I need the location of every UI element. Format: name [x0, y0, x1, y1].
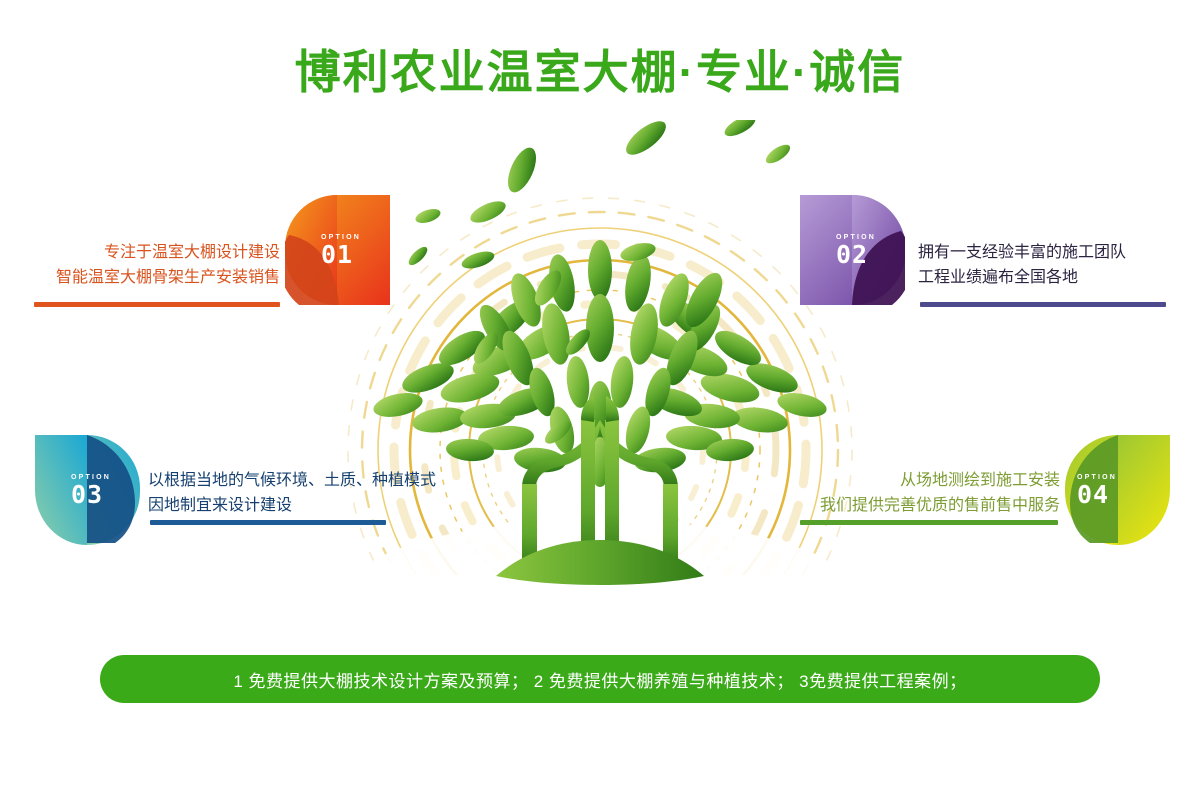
bottom-banner: 1 免费提供大棚技术设计方案及预算； 2 免费提供大棚养殖与种植技术； 3免费提…	[100, 655, 1100, 703]
option-03-badge[interactable]: OPTION 03	[35, 435, 140, 545]
option-01-line-2: 智能温室大棚骨架生产安装销售	[30, 265, 280, 290]
option-04-line-2: 我们提供完善优质的售前售中服务	[790, 493, 1060, 518]
option-01-line-1: 专注于温室大棚设计建设	[30, 240, 280, 265]
option-02-badge[interactable]: OPTION 02	[800, 195, 905, 305]
option-02-rule	[920, 302, 1166, 307]
bottom-banner-text: 1 免费提供大棚技术设计方案及预算； 2 免费提供大棚养殖与种植技术； 3免费提…	[233, 667, 966, 692]
option-04-rule	[800, 520, 1058, 525]
option-03-text: 以根据当地的气候环境、土质、种植模式 因地制宜来设计建设	[148, 468, 528, 518]
option-02-text: 拥有一支经验丰富的施工团队 工程业绩遍布全国各地	[918, 240, 1180, 290]
option-04-line-1: 从场地测绘到施工安装	[790, 468, 1060, 493]
option-01-rule	[34, 302, 280, 307]
option-04-badge[interactable]: OPTION 04	[1065, 435, 1170, 545]
poster-canvas: 博利农业温室大棚·专业·诚信	[0, 0, 1200, 785]
option-02-line-2: 工程业绩遍布全国各地	[918, 265, 1180, 290]
option-01-text: 专注于温室大棚设计建设 智能温室大棚骨架生产安装销售	[30, 240, 280, 290]
option-04-text: 从场地测绘到施工安装 我们提供完善优质的售前售中服务	[790, 468, 1060, 518]
option-02-line-1: 拥有一支经验丰富的施工团队	[918, 240, 1180, 265]
option-03-line-2: 因地制宜来设计建设	[148, 493, 528, 518]
page-title: 博利农业温室大棚·专业·诚信	[0, 44, 1200, 100]
option-01-badge[interactable]: OPTION 01	[285, 195, 390, 305]
option-03-line-1: 以根据当地的气候环境、土质、种植模式	[148, 468, 528, 493]
option-03-rule	[150, 520, 386, 525]
